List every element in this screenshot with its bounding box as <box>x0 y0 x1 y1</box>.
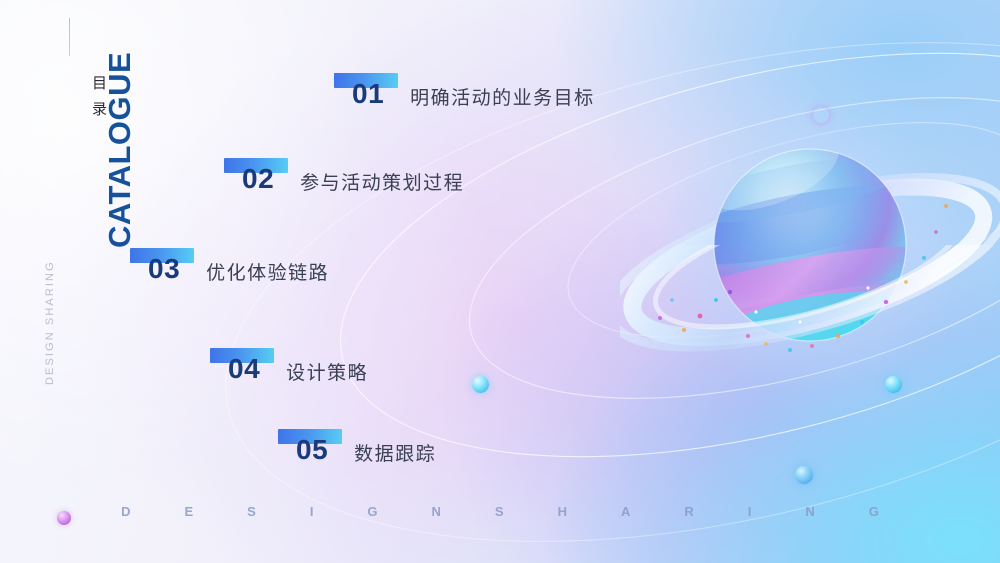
catalogue-number-wrap-05: 05 <box>296 436 328 464</box>
catalogue-number-04: 04 <box>228 353 260 384</box>
catalogue-number-wrap-04: 04 <box>228 355 260 383</box>
presentation-slide: CATALOGUE 目 录 DESIGN SHARING 01 明确活动的业务目… <box>0 0 1000 563</box>
catalogue-item-05[interactable]: 05 数据跟踪 <box>296 436 436 464</box>
catalogue-label-03: 优化体验链路 <box>206 264 329 283</box>
catalogue-menu: 01 明确活动的业务目标 02 参与活动策划过程 03 优化体验链路 04 设计… <box>0 0 1000 563</box>
catalogue-number-01: 01 <box>352 78 384 109</box>
catalogue-number-wrap-03: 03 <box>148 255 180 283</box>
catalogue-number-02: 02 <box>242 163 274 194</box>
catalogue-item-03[interactable]: 03 优化体验链路 <box>148 255 329 283</box>
catalogue-label-01: 明确活动的业务目标 <box>410 89 595 108</box>
catalogue-number-03: 03 <box>148 253 180 284</box>
catalogue-label-04: 设计策略 <box>286 364 368 383</box>
catalogue-number-wrap-02: 02 <box>242 165 274 193</box>
catalogue-label-02: 参与活动策划过程 <box>300 174 464 193</box>
catalogue-item-02[interactable]: 02 参与活动策划过程 <box>242 165 464 193</box>
catalogue-item-04[interactable]: 04 设计策略 <box>228 355 368 383</box>
catalogue-number-wrap-01: 01 <box>352 80 384 108</box>
bottom-wordmark: DESIGNSHARING <box>0 504 1000 519</box>
catalogue-number-05: 05 <box>296 434 328 465</box>
catalogue-label-05: 数据跟踪 <box>354 445 436 464</box>
catalogue-item-01[interactable]: 01 明确活动的业务目标 <box>352 80 595 108</box>
